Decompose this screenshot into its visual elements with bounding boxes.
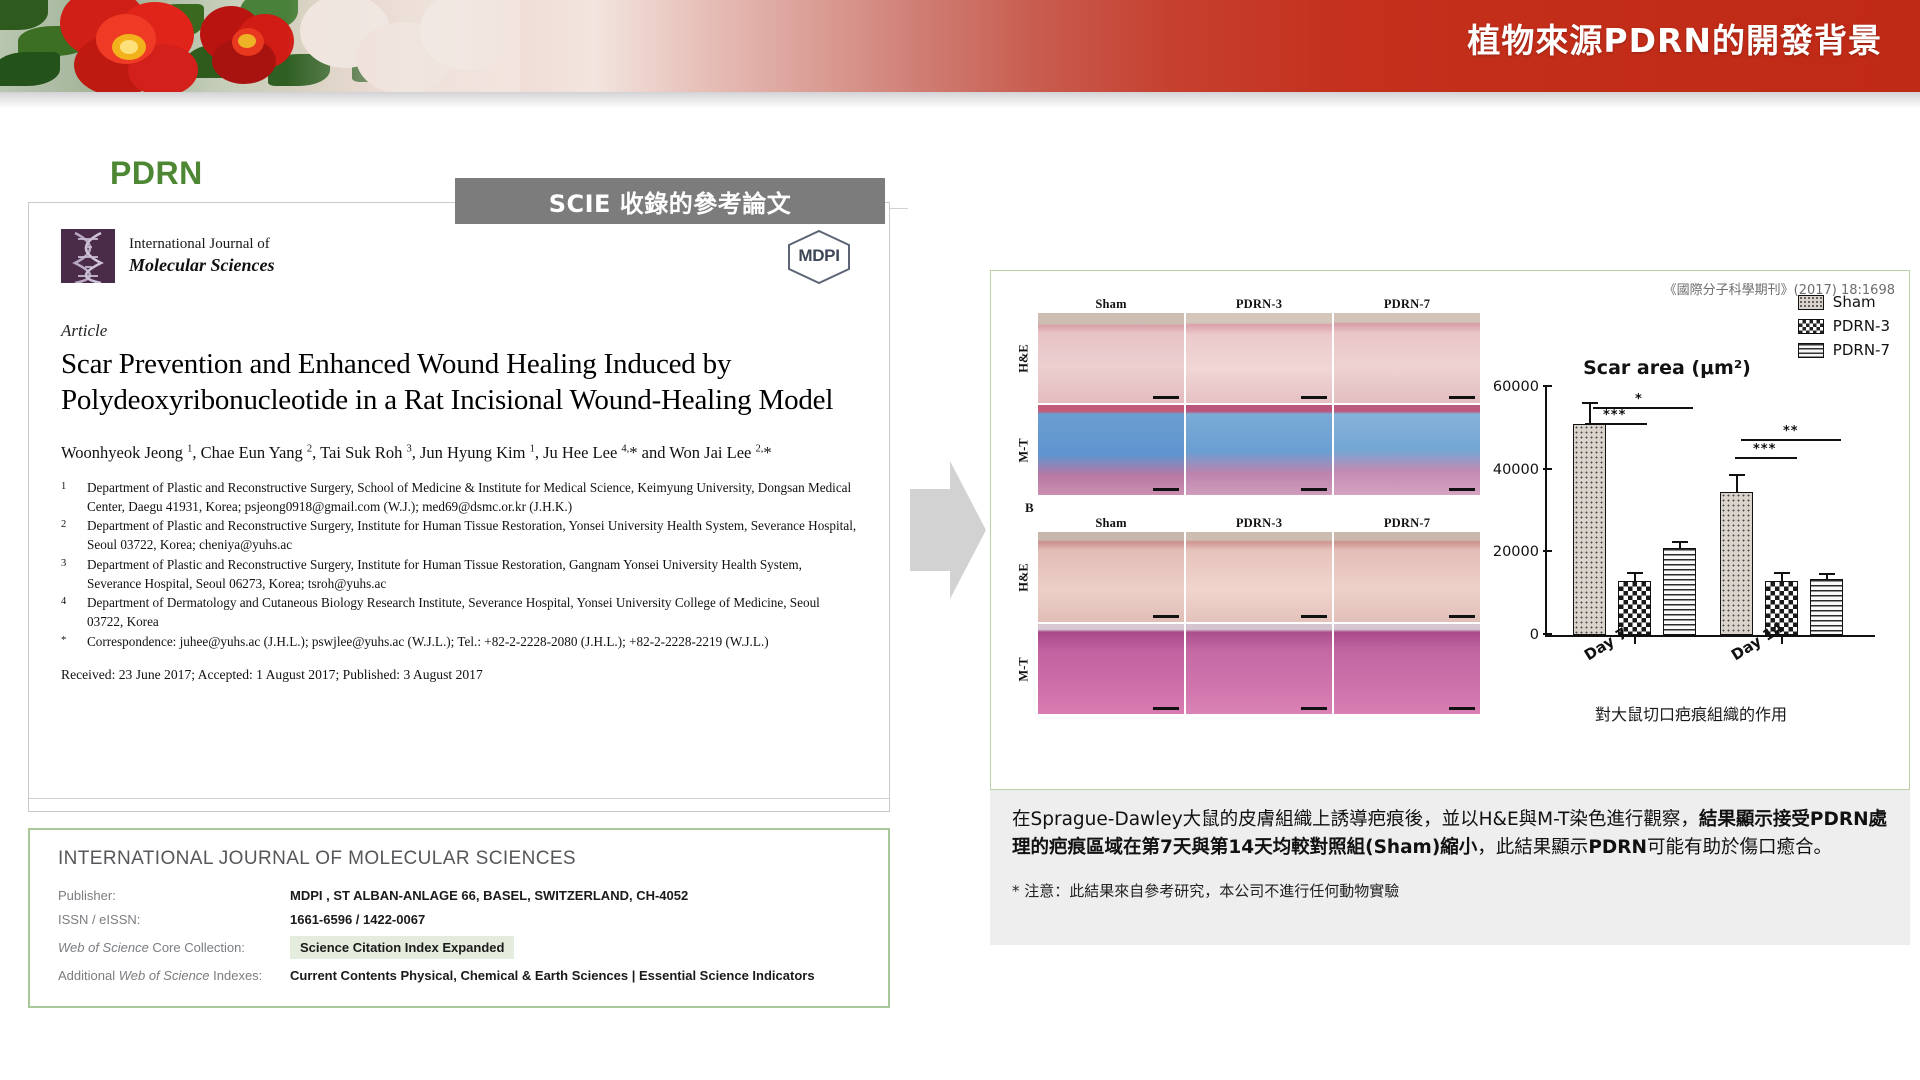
histology-row-mt-a: M-T [1011, 404, 1481, 496]
y-axis-tick [1543, 633, 1552, 635]
chart-error-bar [1826, 575, 1828, 579]
histology-column-header: PDRN-3 [1185, 516, 1333, 531]
paper-bottom-divider [29, 798, 890, 799]
legend-label: PDRN-7 [1833, 341, 1890, 359]
significance-line [1735, 457, 1797, 459]
histology-tile [1185, 531, 1333, 623]
histology-column-header: PDRN-7 [1333, 297, 1481, 312]
histology-tile [1185, 404, 1333, 496]
legend-item: PDRN-3 [1798, 317, 1890, 335]
figure-caption: 對大鼠切口疤痕組織的作用 [1491, 701, 1891, 725]
affiliation-marker: 3 [61, 556, 87, 593]
significance-marker: ** [1783, 424, 1799, 439]
significance-line [1585, 423, 1647, 425]
journal-logo: International Journal of Molecular Scien… [61, 229, 275, 283]
y-axis-tick-label: 20000 [1469, 544, 1539, 560]
scie-badge-label: SCIE 收錄的參考論文 [549, 184, 792, 219]
y-axis-tick-label: 0 [1469, 627, 1539, 643]
chart-error-bar [1736, 476, 1738, 493]
legend-swatch [1798, 343, 1824, 358]
affiliation-row: 2Department of Plastic and Reconstructiv… [61, 517, 857, 554]
article-type-label: Article [61, 321, 857, 341]
wos-row: Publisher:MDPI , ST ALBAN-ANLAGE 66, BAS… [58, 888, 860, 903]
wos-key: Publisher: [58, 888, 290, 903]
header-shadow [0, 92, 1920, 108]
scie-badge: SCIE 收錄的參考論文 [455, 178, 885, 224]
histology-tile [1333, 623, 1481, 715]
wos-value: Science Citation Index Expanded [290, 936, 514, 959]
wos-value: MDPI , ST ALBAN-ANLAGE 66, BASEL, SWITZE… [290, 888, 688, 903]
y-axis-tick [1543, 550, 1552, 552]
chart-error-cap [1627, 572, 1643, 574]
histology-column-header: PDRN-7 [1333, 516, 1481, 531]
row-label-mt-a: M-T [1011, 404, 1037, 496]
mdpi-logo-text: MDPI [785, 246, 853, 266]
chart-plot-area: 0200004000060000Day 7Day 14********* [1545, 387, 1875, 637]
paper-title: Scar Prevention and Enhanced Wound Heali… [61, 347, 857, 419]
wos-row: ISSN / eISSN:1661-6596 / 1422-0067 [58, 912, 860, 927]
affiliation-row: *Correspondence: juhee@yuhs.ac (J.H.L.);… [61, 633, 857, 652]
chart-error-bar [1634, 574, 1636, 581]
significance-marker: *** [1603, 408, 1626, 423]
histology-column-header: Sham [1037, 297, 1185, 312]
chart-bar [1720, 492, 1753, 635]
wos-key: Additional Web of Science Indexes: [58, 968, 290, 983]
histology-tile [1333, 531, 1481, 623]
legend-item: PDRN-7 [1798, 341, 1890, 359]
histology-tile [1333, 404, 1481, 496]
histology-column-header: Sham [1037, 516, 1185, 531]
figure-card: 《國際分子科學期刊》(2017) 18:1698 ShamPDRN-3PDRN-… [990, 270, 1910, 790]
panel-letter-b: B [1025, 500, 1481, 516]
chart-error-cap [1672, 541, 1688, 543]
wos-value: Current Contents Physical, Chemical & Ea… [290, 968, 815, 983]
affiliation-row: 1Department of Plastic and Reconstructiv… [61, 479, 857, 516]
y-axis [1545, 387, 1547, 637]
mdpi-logo: MDPI [785, 229, 853, 285]
affiliation-marker: 2 [61, 517, 87, 554]
y-axis-tick-label: 60000 [1469, 379, 1539, 395]
paper-dates: Received: 23 June 2017; Accepted: 1 Augu… [61, 667, 857, 683]
flow-arrow-icon [910, 455, 986, 605]
row-label-he-b: H&E [1011, 531, 1037, 623]
explanation-note: * 注意：此結果來自參考研究，本公司不進行任何動物實驗 [1012, 880, 1888, 901]
significance-line [1741, 439, 1841, 441]
wos-row: Additional Web of Science Indexes:Curren… [58, 968, 860, 983]
photo-fade-overlay [0, 0, 520, 92]
row-label-he-a: H&E [1011, 312, 1037, 404]
chart-error-cap [1819, 573, 1835, 575]
legend-label: Sham [1833, 293, 1876, 311]
histology-tile [1037, 531, 1185, 623]
row-label-mt-b: M-T [1011, 623, 1037, 715]
header-banner: 植物來源PDRN的開發背景 [0, 0, 1920, 92]
histology-tile [1333, 312, 1481, 404]
significance-marker: *** [1753, 442, 1776, 457]
camellia-photo [0, 0, 520, 92]
affiliation-row: 3Department of Plastic and Reconstructiv… [61, 556, 857, 593]
chart-error-bar [1679, 543, 1681, 548]
journal-name-line1: International Journal of [129, 235, 275, 254]
explanation-panel: 在Sprague-Dawley大鼠的皮膚組織上誘導疤痕後，並以H&E與M-T染色… [990, 790, 1910, 945]
affiliation-text: Department of Dermatology and Cutaneous … [87, 594, 857, 631]
affiliation-marker: * [61, 633, 87, 652]
histology-column-headers: ShamPDRN-3PDRN-7 [1037, 297, 1481, 312]
wos-rows: Publisher:MDPI , ST ALBAN-ANLAGE 66, BAS… [58, 888, 860, 983]
histology-row-mt-b: M-T [1011, 623, 1481, 715]
histology-column-headers-b: ShamPDRN-3PDRN-7 [1037, 516, 1481, 531]
wos-journal-name: INTERNATIONAL JOURNAL OF MOLECULAR SCIEN… [58, 848, 860, 870]
web-of-science-box: INTERNATIONAL JOURNAL OF MOLECULAR SCIEN… [28, 828, 890, 1008]
legend-swatch [1798, 295, 1824, 310]
paper-affiliations: 1Department of Plastic and Reconstructiv… [61, 479, 857, 652]
wos-key: Web of Science Core Collection: [58, 940, 290, 955]
wos-row: Web of Science Core Collection:Science C… [58, 936, 860, 959]
paper-authors: Woonhyeok Jeong 1, Chae Eun Yang 2, Tai … [61, 441, 857, 465]
x-axis [1545, 635, 1875, 637]
y-axis-tick [1543, 385, 1552, 387]
histology-tile [1037, 312, 1185, 404]
journal-name: International Journal of Molecular Scien… [129, 235, 275, 276]
histology-tile [1037, 404, 1185, 496]
affiliation-marker: 4 [61, 594, 87, 631]
histology-tile [1185, 312, 1333, 404]
chart-error-bar [1589, 404, 1591, 425]
affiliation-marker: 1 [61, 479, 87, 516]
paper-screenshot: International Journal of Molecular Scien… [28, 202, 890, 812]
page-title: 植物來源PDRN的開發背景 [1467, 14, 1882, 62]
affiliation-text: Correspondence: juhee@yuhs.ac (J.H.L.); … [87, 633, 857, 652]
journal-name-line2: Molecular Sciences [129, 254, 275, 277]
histology-row-he-b: H&E [1011, 531, 1481, 623]
explanation-text: 在Sprague-Dawley大鼠的皮膚組織上誘導疤痕後，並以H&E與M-T染色… [1012, 806, 1888, 862]
chart-bar [1663, 548, 1696, 635]
affiliation-text: Department of Plastic and Reconstructive… [87, 517, 857, 554]
paper-header: International Journal of Molecular Scien… [61, 229, 857, 285]
scar-area-chart: ShamPDRN-3PDRN-7 Scar area (μm²) 0200004… [1491, 289, 1896, 689]
significance-marker: * [1635, 392, 1643, 407]
chart-title: Scar area (μm²) [1547, 357, 1787, 379]
y-axis-tick-label: 40000 [1469, 462, 1539, 478]
affiliation-text: Department of Plastic and Reconstructive… [87, 556, 857, 593]
legend-label: PDRN-3 [1833, 317, 1890, 335]
histology-column-header: PDRN-3 [1185, 297, 1333, 312]
histology-tile [1185, 623, 1333, 715]
chart-legend: ShamPDRN-3PDRN-7 [1798, 293, 1890, 365]
x-axis-tick [1634, 635, 1636, 644]
chart-error-cap [1582, 402, 1598, 404]
chart-error-bar [1781, 574, 1783, 581]
legend-swatch [1798, 319, 1824, 334]
wos-key: ISSN / eISSN: [58, 912, 290, 927]
histology-figure: ShamPDRN-3PDRN-7 H&E M-T B ShamPDRN-3PDR… [1011, 297, 1481, 715]
histology-row-he-a: H&E [1011, 312, 1481, 404]
chart-error-cap [1774, 572, 1790, 574]
affiliation-row: 4Department of Dermatology and Cutaneous… [61, 594, 857, 631]
chart-error-cap [1729, 474, 1745, 476]
chart-bar [1810, 579, 1843, 635]
section-label-pdrn: PDRN [110, 155, 203, 192]
legend-item: Sham [1798, 293, 1890, 311]
chart-bar [1573, 424, 1606, 635]
histology-tile [1037, 623, 1185, 715]
dna-helix-icon [61, 229, 115, 283]
wos-value: 1661-6596 / 1422-0067 [290, 912, 425, 927]
y-axis-tick [1543, 468, 1552, 470]
affiliation-text: Department of Plastic and Reconstructive… [87, 479, 857, 516]
